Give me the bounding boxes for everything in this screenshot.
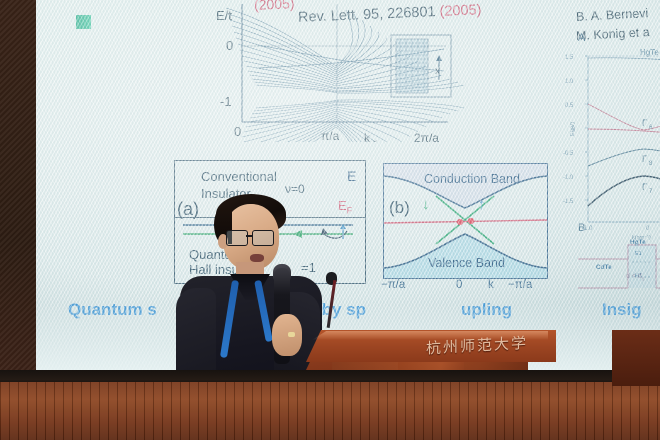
panel-b-xtick-mid: 0	[456, 279, 462, 291]
headline-fragment-left: Quantum s	[68, 300, 157, 320]
svg-text:8: 8	[649, 161, 653, 167]
right-panel-a-tag: A	[578, 32, 585, 44]
svg-text:0: 0	[646, 226, 650, 232]
well-center-label: HgTe	[630, 239, 646, 246]
panel-b-tag: (b)	[389, 198, 410, 218]
svg-text:-0.5: -0.5	[563, 151, 574, 157]
svg-text:k: k	[364, 131, 371, 142]
svg-text:7: 7	[649, 189, 653, 195]
svg-text:π/a: π/a	[321, 129, 340, 142]
valence-band-label: Valence Band	[428, 256, 505, 270]
glasses-lens-left	[226, 230, 248, 246]
ring	[288, 332, 295, 337]
headline-fragment-far-right: Insig	[602, 300, 642, 320]
svg-text:Γ: Γ	[642, 182, 647, 192]
svg-text:0.5: 0.5	[565, 103, 574, 109]
well-left-label: CdTe	[596, 264, 612, 271]
svg-text:-1: -1	[220, 94, 232, 109]
panel-b-xlabel: k	[488, 279, 494, 291]
svg-text:Γ: Γ	[642, 118, 647, 128]
panel-b-xtick-left: −π/a	[381, 279, 405, 291]
stage-front-panel	[0, 382, 660, 440]
mouth	[250, 254, 264, 262]
svg-text:0: 0	[234, 124, 241, 139]
svg-text:E/t: E/t	[216, 8, 232, 23]
glasses-lens-right	[252, 230, 274, 246]
svg-text:-1.0: -1.0	[563, 175, 574, 181]
svg-text:0: 0	[226, 38, 233, 53]
projection-screen: (2005) Rev. Lett. 95, 226801 (2005) B. A…	[36, 0, 660, 374]
glasses	[226, 230, 278, 244]
spin-down-arrow-icon: ↓	[422, 196, 430, 213]
svg-text:E(eV): E(eV)	[570, 122, 576, 136]
panel-b-dirac-cone-diagram: (b) Conduction Band Valence Band ↓ ↑	[383, 163, 548, 279]
author-bernevig: B. A. Bernevi	[576, 6, 649, 24]
green-marker-artifact	[76, 15, 91, 29]
hand-right	[272, 314, 302, 356]
svg-text:x: x	[435, 66, 440, 77]
graphene-ribbon-band-figure: E/t 0 -1 0 π/a k x 2π/a	[196, 2, 496, 142]
right-panel-b-tag: B	[578, 222, 585, 234]
svg-text:Γ: Γ	[642, 154, 647, 164]
svg-text:x: x	[373, 138, 377, 142]
glasses-bridge	[246, 235, 252, 237]
well-width-condition: d < dc	[626, 273, 644, 282]
fermi-level-label: EF	[338, 198, 352, 216]
wall-right-lower	[612, 330, 660, 386]
panel-a-nu-top: ν=0	[285, 182, 305, 196]
svg-text:-1.5: -1.5	[563, 199, 574, 205]
panel-b-xtick-right: −π/a	[508, 279, 532, 291]
svg-text:2π/a: 2π/a	[414, 131, 439, 142]
conduction-band-label: Conduction Band	[424, 172, 520, 186]
conference-photo: (2005) Rev. Lett. 95, 226801 (2005) B. A…	[0, 0, 660, 440]
svg-text:1.0: 1.0	[565, 79, 574, 85]
hgte-quantum-well-figure: 1.5 1.0 0.5 0 -0.5 -1.0 -1.5 E(eV) -1.0 …	[560, 40, 660, 290]
headline-fragment-right: upling	[461, 300, 512, 320]
spin-up-arrow-icon: ↑	[478, 196, 486, 213]
hgte-bulk-label: HgTe	[640, 48, 659, 57]
svg-text:1.5: 1.5	[565, 55, 574, 61]
panel-b-energy-axis-label: E	[347, 168, 356, 184]
panel-a-line1: Conventional	[201, 169, 277, 184]
level-e1-label: E1	[635, 251, 642, 257]
